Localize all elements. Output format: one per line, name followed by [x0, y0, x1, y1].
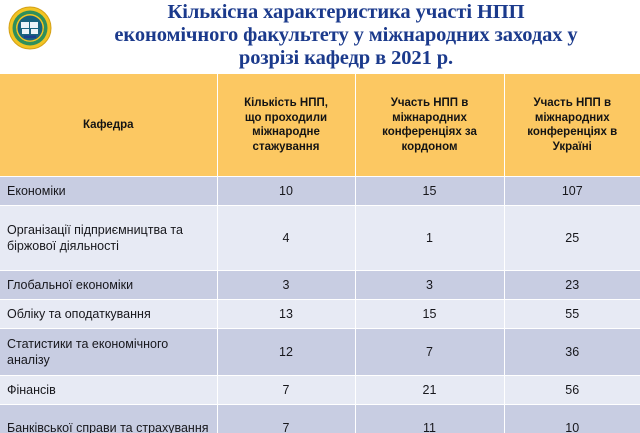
cell-conferences-abroad: 1: [355, 206, 504, 271]
cell-internships: 7: [217, 376, 355, 405]
header-line: конференціях за: [382, 126, 477, 138]
cell-internships: 4: [217, 206, 355, 271]
table-row: Обліку та оподаткування 13 15 55: [0, 300, 640, 329]
cell-conferences-ukraine: 107: [504, 177, 640, 206]
table-body: Економіки 10 15 107 Організації підприєм…: [0, 177, 640, 433]
header-row: Кафедра Кількість НПП, що проходили міжн…: [0, 74, 640, 177]
table-row: Статистики та економічного аналізу 12 7 …: [0, 329, 640, 376]
cell-internships: 3: [217, 271, 355, 300]
cell-conferences-ukraine: 36: [504, 329, 640, 376]
header-line: міжнародних: [535, 112, 610, 124]
cell-department: Обліку та оподаткування: [0, 300, 217, 329]
cell-conferences-abroad: 11: [355, 405, 504, 433]
cell-department: Банківської справи та страхування: [0, 405, 217, 433]
header-line: стажування: [253, 141, 320, 153]
col-header-internships: Кількість НПП, що проходили міжнародне с…: [217, 74, 355, 177]
cell-conferences-ukraine: 55: [504, 300, 640, 329]
cell-conferences-abroad: 15: [355, 300, 504, 329]
cell-department: Організації підприємництва та біржової д…: [0, 206, 217, 271]
cell-department: Економіки: [0, 177, 217, 206]
university-emblem-icon: [8, 6, 52, 50]
cell-internships: 10: [217, 177, 355, 206]
table-row: Банківської справи та страхування 7 11 1…: [0, 405, 640, 433]
table-row: Економіки 10 15 107: [0, 177, 640, 206]
header-line: Участь НПП в: [391, 97, 469, 109]
header-line: Участь НПП в: [533, 97, 611, 109]
header-line: Україні: [553, 141, 592, 153]
cell-department: Фінансів: [0, 376, 217, 405]
cell-internships: 12: [217, 329, 355, 376]
col-header-department: Кафедра: [0, 74, 217, 177]
cell-conferences-abroad: 7: [355, 329, 504, 376]
page-title: Кількісна характеристика участі НПП екон…: [56, 1, 636, 70]
header-line: міжнародне: [252, 126, 320, 138]
col-header-conferences-ukraine: Участь НПП в міжнародних конференціях в …: [504, 74, 640, 177]
cell-conferences-ukraine: 10: [504, 405, 640, 433]
cell-conferences-abroad: 21: [355, 376, 504, 405]
header-line: конференціях в: [527, 126, 617, 138]
cell-conferences-ukraine: 56: [504, 376, 640, 405]
cell-department: Статистики та економічного аналізу: [0, 329, 217, 376]
table-row: Фінансів 7 21 56: [0, 376, 640, 405]
title-line-3: розрізі кафедр в 2021 р.: [56, 47, 636, 70]
participation-table: Кафедра Кількість НПП, що проходили міжн…: [0, 74, 640, 433]
title-line-2: економічного факультету у міжнародних за…: [56, 24, 636, 47]
header-line: що проходили: [245, 112, 327, 124]
slide-canvas: Кількісна характеристика участі НПП екон…: [0, 0, 640, 433]
table-row: Організації підприємництва та біржової д…: [0, 206, 640, 271]
cell-internships: 13: [217, 300, 355, 329]
cell-department: Глобальної економіки: [0, 271, 217, 300]
cell-conferences-abroad: 3: [355, 271, 504, 300]
header-line: міжнародних: [392, 112, 467, 124]
cell-internships: 7: [217, 405, 355, 433]
table-header: Кафедра Кількість НПП, що проходили міжн…: [0, 74, 640, 177]
title-band: Кількісна характеристика участі НПП екон…: [0, 0, 640, 74]
header-line: кордоном: [401, 141, 457, 153]
col-header-conferences-abroad: Участь НПП в міжнародних конференціях за…: [355, 74, 504, 177]
title-line-1: Кількісна характеристика участі НПП: [56, 1, 636, 24]
cell-conferences-ukraine: 23: [504, 271, 640, 300]
cell-conferences-ukraine: 25: [504, 206, 640, 271]
header-line: Кількість НПП,: [244, 97, 328, 109]
cell-conferences-abroad: 15: [355, 177, 504, 206]
table-row: Глобальної економіки 3 3 23: [0, 271, 640, 300]
